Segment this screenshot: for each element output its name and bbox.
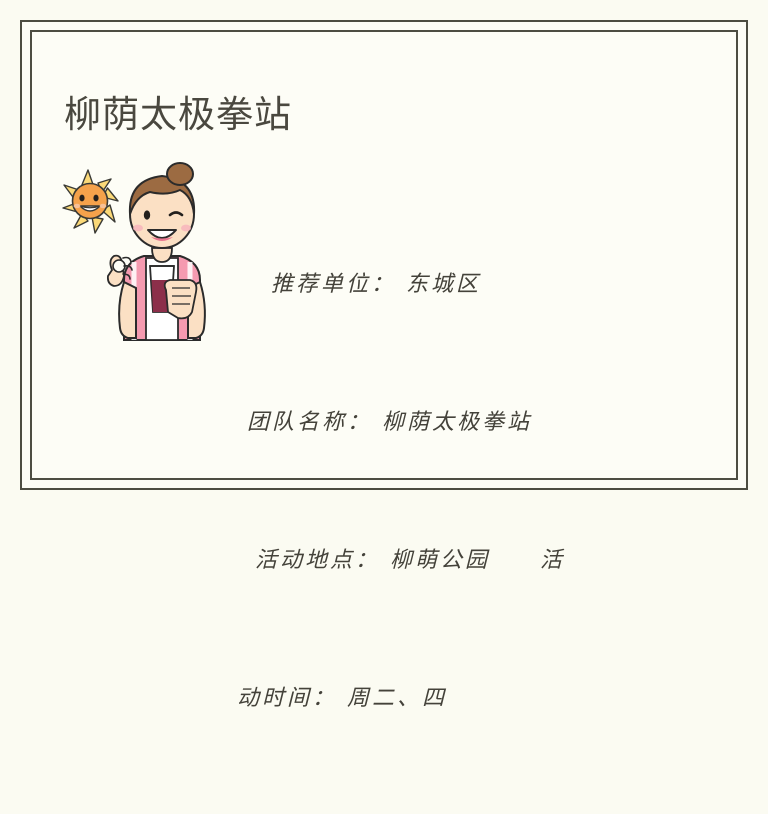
detail-line-activity-time: 动时间： 周二、四 <box>237 676 637 722</box>
bordered-card: 柳荫太极拳站 <box>20 20 748 490</box>
detail-line-team-name: 团队名称： 柳荫太极拳站 <box>237 400 637 446</box>
detail-line-recommending-unit: 推荐单位： 东城区 <box>237 262 637 308</box>
detail-line-activity-place: 活动地点： 柳萌公园 活 <box>237 538 637 584</box>
activity-details-block: 推荐单位： 东城区 团队名称： 柳荫太极拳站 活动地点： 柳萌公园 活 动时间：… <box>237 170 637 814</box>
sun-icon <box>63 170 118 233</box>
page-title: 柳荫太极拳站 <box>64 95 292 136</box>
woman-illustration <box>108 163 205 340</box>
illustration-woman-with-drink-and-sun <box>62 162 217 342</box>
content-area: 推荐单位： 东城区 团队名称： 柳荫太极拳站 活动地点： 柳萌公园 活 动时间：… <box>32 140 736 478</box>
bordered-card-inner-rule: 柳荫太极拳站 <box>30 30 738 480</box>
